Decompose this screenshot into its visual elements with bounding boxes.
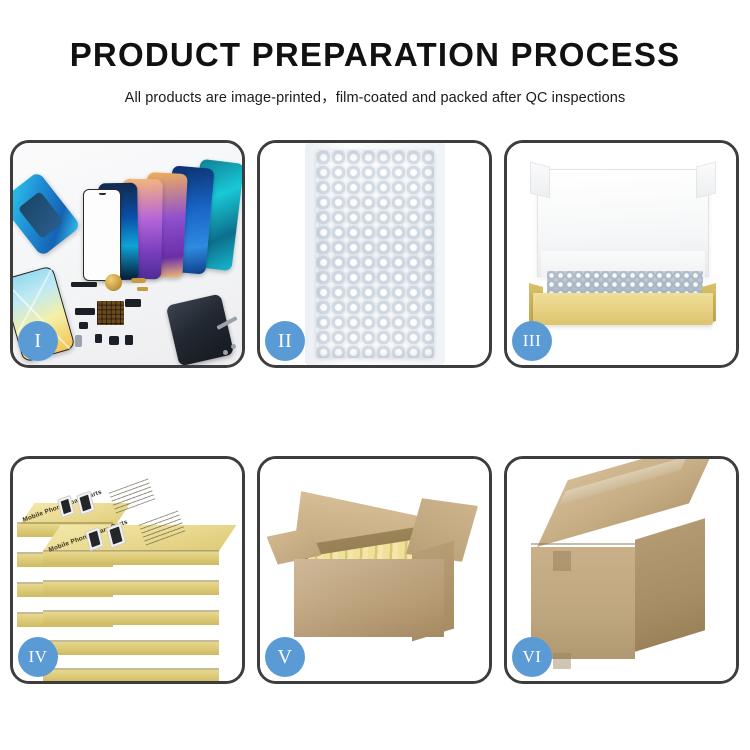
flex-cable-2 [131, 278, 146, 283]
screw-2 [223, 350, 228, 355]
carton-front-panel [294, 559, 444, 637]
kraft-box-front [533, 293, 713, 325]
step-badge-1: I [18, 321, 58, 361]
connector-3 [79, 322, 88, 329]
carton-flap-tab-bottom [553, 653, 571, 669]
sealed-carton-front [531, 547, 635, 659]
adhesive-frame-part [13, 171, 81, 257]
connector-2 [75, 308, 95, 315]
page-subtitle: All products are image-printed，film-coat… [0, 86, 750, 107]
stacked-box-front-4 [43, 625, 219, 655]
process-steps-grid: I II III [10, 140, 740, 680]
sealed-carton-side [635, 518, 705, 651]
sim-tray [75, 335, 82, 347]
screw-1 [231, 344, 236, 349]
tempered-glass-screen [83, 189, 121, 281]
step-badge-3: III [512, 321, 552, 361]
step-badge-4: IV [18, 637, 58, 677]
page-title: PRODUCT PREPARATION PROCESS [0, 38, 750, 73]
step-panel-3: III [504, 140, 739, 368]
flex-cable-1 [71, 282, 97, 287]
ic-chip-array [97, 301, 124, 325]
connector-1 [125, 299, 141, 307]
speaker-component [105, 274, 122, 291]
camera-module [109, 336, 119, 345]
step-badge-5: V [265, 637, 305, 677]
step-panel-6: VI [504, 456, 739, 684]
lid-spec-text-1 [109, 478, 156, 513]
step-panel-4: Mobile Phone Spare Parts Mobile Phone Sp… [10, 456, 245, 684]
step-panel-5: V [257, 456, 492, 684]
carton-flap-tab-top [553, 551, 571, 571]
page-header: PRODUCT PREPARATION PROCESS All products… [0, 0, 750, 107]
carton-fold-line [531, 543, 635, 545]
step-panel-1: I [10, 140, 245, 368]
step-badge-2: II [265, 321, 305, 361]
stacked-box-front-3 [43, 595, 219, 625]
step-badge-6: VI [512, 637, 552, 677]
connector-4 [95, 334, 102, 343]
flex-cable-3 [137, 287, 148, 291]
bubble-wrap-sheet [316, 150, 434, 358]
stacked-box-front-5 [43, 655, 219, 681]
stacked-box-front-2 [43, 565, 219, 595]
vibration-motor [125, 335, 133, 345]
step-panel-2: II [257, 140, 492, 368]
